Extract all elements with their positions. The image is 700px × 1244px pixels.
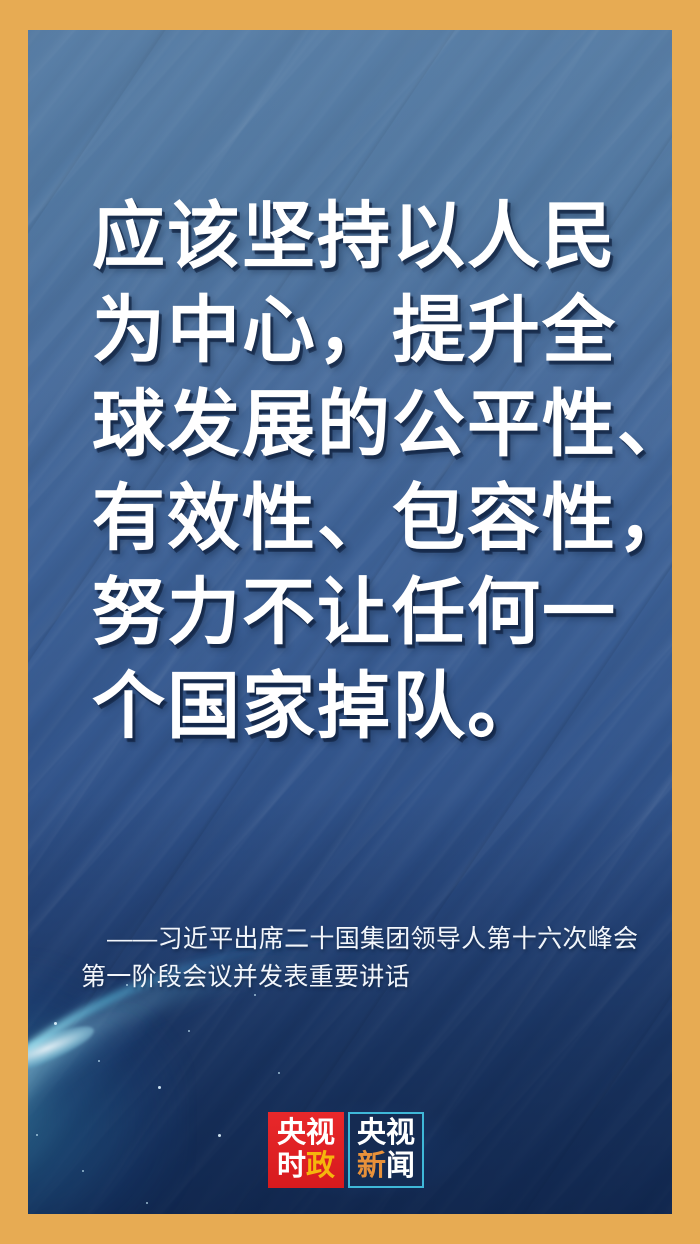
logo-shizheng-char-shi: 视	[306, 1117, 335, 1150]
logo-xinwen-top-row: 央 视	[357, 1117, 415, 1150]
logo-cctv-shizheng[interactable]: 央 视 时 政	[268, 1112, 344, 1188]
headline-line-4: 有效性、包容性，	[92, 472, 652, 566]
headline-line-2: 为中心，提升全	[92, 284, 652, 378]
logo-xinwen-bottom-row: 新 闻	[357, 1150, 415, 1183]
poster-canvas: 应该坚持以人民 为中心，提升全 球发展的公平性、 有效性、包容性， 努力不让任何…	[28, 30, 672, 1214]
logo-xinwen-char-yang: 央	[357, 1117, 386, 1150]
logo-shizheng-char-zheng: 政	[306, 1150, 335, 1183]
comet-streak-lower	[28, 1014, 158, 1134]
headline-block: 应该坚持以人民 为中心，提升全 球发展的公平性、 有效性、包容性， 努力不让任何…	[92, 190, 652, 754]
logo-cctv-xinwen[interactable]: 央 视 新 闻	[348, 1112, 424, 1188]
logo-shizheng-top-row: 央 视	[277, 1117, 335, 1150]
logo-xinwen-char-xin: 新	[357, 1150, 386, 1183]
logo-xinwen-char-wen: 闻	[386, 1150, 415, 1183]
headline-line-6: 个国家掉队。	[92, 660, 652, 754]
logo-shizheng-bottom-row: 时 政	[277, 1150, 335, 1183]
headline-line-1: 应该坚持以人民	[92, 190, 652, 284]
logo-group: 央 视 时 政 央 视 新 闻	[268, 1110, 458, 1190]
logo-xinwen-char-shi: 视	[386, 1117, 415, 1150]
attribution-line-2: 第一阶段会议并发表重要讲话	[81, 958, 661, 996]
headline-line-3: 球发展的公平性、	[92, 378, 652, 472]
headline-line-5: 努力不让任何一	[92, 566, 652, 660]
attribution-line-1: ——习近平出席二十国集团领导人第十六次峰会	[81, 920, 661, 958]
attribution-block: ——习近平出席二十国集团领导人第十六次峰会 第一阶段会议并发表重要讲话	[81, 920, 661, 996]
poster-root: 应该坚持以人民 为中心，提升全 球发展的公平性、 有效性、包容性， 努力不让任何…	[0, 0, 700, 1244]
comet-core	[28, 1017, 99, 1086]
logo-shizheng-char-yang: 央	[277, 1117, 306, 1150]
logo-shizheng-char-shi2: 时	[277, 1150, 306, 1183]
